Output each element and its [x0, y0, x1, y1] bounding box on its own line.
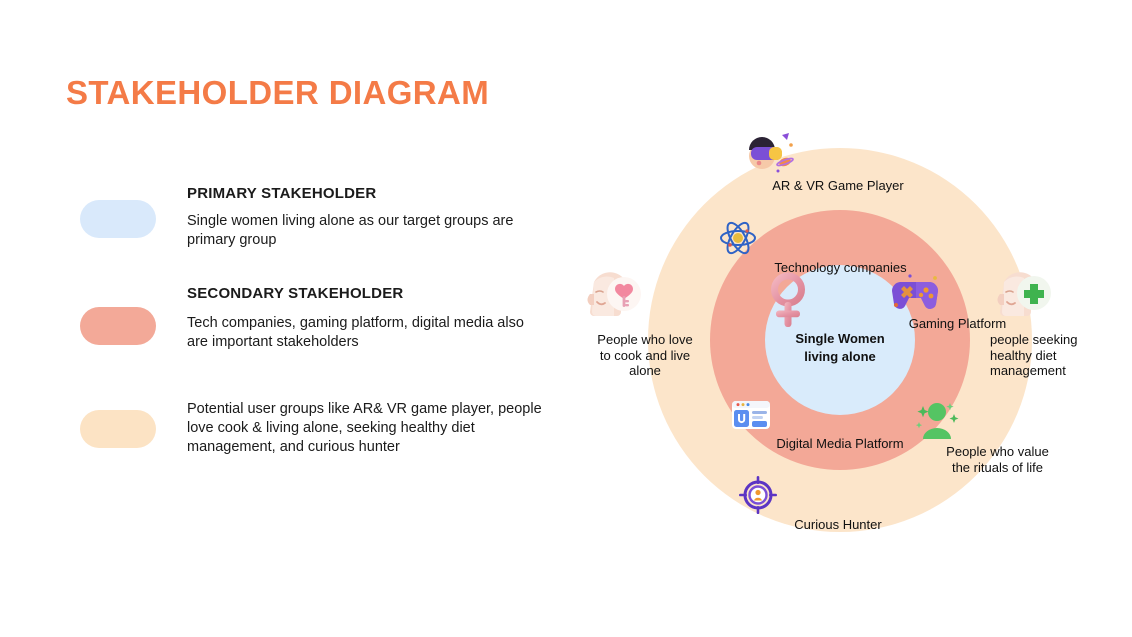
page-title: STAKEHOLDER DIAGRAM — [66, 74, 489, 112]
node-people-who-value-rituals: People who value the rituals of life — [910, 398, 1085, 475]
green-person-sparkle-icon — [910, 398, 1085, 442]
node-label: Curious Hunter — [738, 517, 938, 533]
node-ar-vr-game-player: AR & VR Game Player — [738, 132, 938, 194]
node-label: People who love to cook and live alone — [580, 332, 710, 379]
head-heart-key-icon — [580, 272, 710, 330]
legend-description-secondary: Tech companies, gaming platform, digital… — [187, 314, 547, 352]
atom-icon — [718, 218, 963, 258]
legend-title-primary: PRIMARY STAKEHOLDER — [187, 185, 547, 202]
node-curious-hunter: Curious Hunter — [738, 475, 938, 533]
node-people-seeking-healthy-diet: people seeking healthy diet management — [990, 272, 1115, 379]
legend-swatch-secondary — [80, 307, 156, 345]
legend-swatch-tertiary — [80, 410, 156, 448]
legend-title-secondary: SECONDARY STAKEHOLDER — [187, 285, 547, 302]
legend-swatch-primary — [80, 200, 156, 238]
concentric-stakeholder-diagram: Single Women living alone AR & VR Ga — [590, 120, 1110, 560]
legend-description-primary: Single women living alone as our target … — [187, 212, 547, 250]
node-label: AR & VR Game Player — [738, 178, 938, 194]
head-green-cross-icon — [990, 272, 1115, 330]
node-technology-companies: Technology companies — [718, 218, 963, 276]
node-label: People who value the rituals of life — [910, 444, 1085, 475]
legend-description-tertiary: Potential user groups like AR& VR game p… — [187, 400, 547, 457]
node-center-label: Single Women living alone — [795, 331, 884, 364]
vr-headset-person-icon — [738, 132, 938, 176]
stakeholder-diagram-slide: STAKEHOLDER DIAGRAM PRIMARY STAKEHOLDER … — [0, 0, 1132, 637]
crosshair-target-icon — [738, 475, 938, 515]
node-people-who-love-to-cook: People who love to cook and live alone — [580, 272, 710, 379]
node-label: people seeking healthy diet management — [990, 332, 1115, 379]
